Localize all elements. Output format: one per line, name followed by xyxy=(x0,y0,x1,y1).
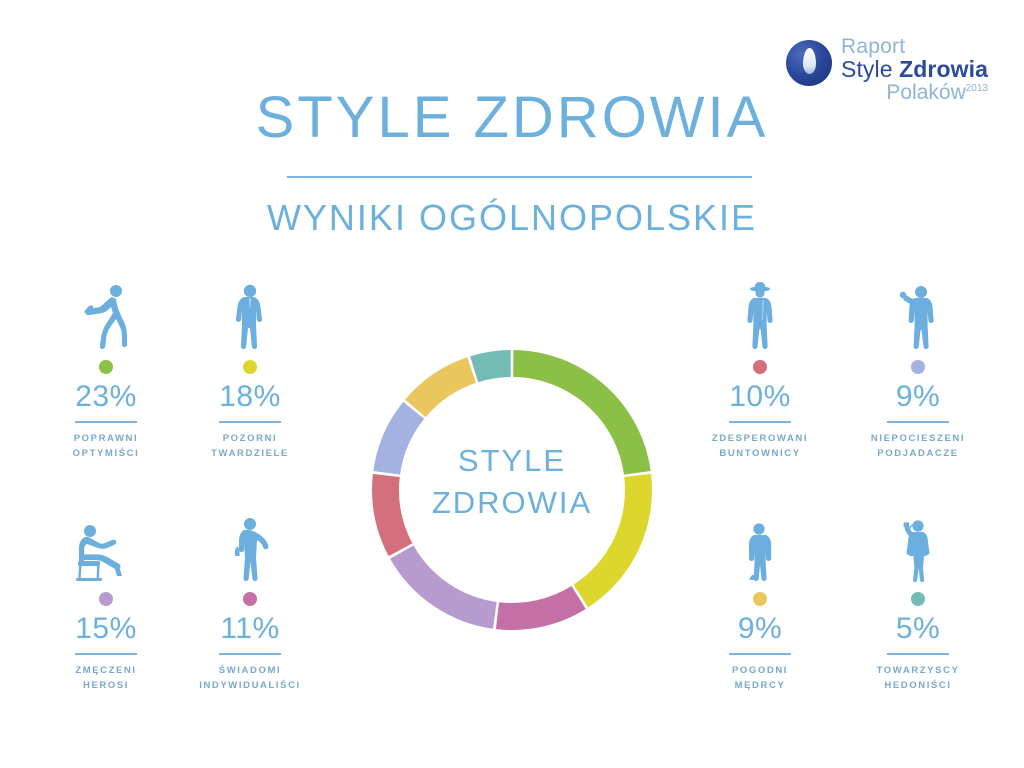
logo-word-zdrowia: Zdrowia xyxy=(899,56,988,82)
logo-line-style-zdrowia: Style Zdrowia xyxy=(841,58,988,82)
segment-percent: 5% xyxy=(838,612,998,646)
segment-label-line1: ZMĘCZENI xyxy=(26,664,186,679)
segment-divider xyxy=(219,653,281,655)
segment-color-dot xyxy=(243,592,257,606)
segment-label-line1: NIEPOCIESZENI xyxy=(838,432,998,447)
donut-center-line1: STYLE xyxy=(352,440,672,482)
segment-card-niepocieszeni-podjadacze[interactable]: 9% NIEPOCIESZENI PODJADACZE xyxy=(838,278,998,461)
segment-divider xyxy=(219,421,281,423)
segment-label-line1: POZORNI xyxy=(170,432,330,447)
segment-label-line1: POGODNI xyxy=(680,664,840,679)
segment-card-zdesperowani-buntownicy[interactable]: 10% ZDESPEROWANI BUNTOWNICY xyxy=(680,278,840,461)
donut-slice-6[interactable] xyxy=(405,357,476,417)
segment-color-dot xyxy=(753,592,767,606)
segment-percent: 15% xyxy=(26,612,186,646)
segment-color-dot xyxy=(243,360,257,374)
segment-percent: 18% xyxy=(170,380,330,414)
segment-label: ZMĘCZENI HEROSI xyxy=(26,664,186,693)
segment-color-dot xyxy=(911,360,925,374)
segment-percent: 10% xyxy=(680,380,840,414)
person-calm-standing-icon xyxy=(680,510,840,582)
segment-label: POPRAWNI OPTYMIŚCI xyxy=(26,432,186,461)
segment-card-poprawni-optymisci[interactable]: 23% POPRAWNI OPTYMIŚCI xyxy=(26,278,186,461)
page-title: STYLE ZDROWIA xyxy=(0,84,1024,151)
segment-card-zmeczeni-herosi[interactable]: 15% ZMĘCZENI HEROSI xyxy=(26,510,186,693)
segment-label-line1: POPRAWNI xyxy=(26,432,186,447)
page-subtitle: WYNIKI OGÓLNOPOLSKIE xyxy=(0,197,1024,239)
person-sitting-chair-icon xyxy=(26,510,186,582)
segment-label-line2: HEDONIŚCI xyxy=(838,679,998,694)
donut-center-label: STYLE ZDROWIA xyxy=(352,440,672,524)
segment-divider xyxy=(887,653,949,655)
segment-label: NIEPOCIESZENI PODJADACZE xyxy=(838,432,998,461)
segment-label-line2: BUNTOWNICY xyxy=(680,447,840,462)
donut-center-line2: ZDROWIA xyxy=(352,482,672,524)
segment-card-pozorni-twardziele[interactable]: 18% POZORNI TWARDZIELE xyxy=(170,278,330,461)
person-woman-drink-icon xyxy=(838,510,998,582)
segment-label-line2: HEROSI xyxy=(26,679,186,694)
segment-divider xyxy=(729,421,791,423)
segment-divider xyxy=(75,421,137,423)
segment-label-line2: TWARDZIELE xyxy=(170,447,330,462)
title-divider xyxy=(287,176,752,178)
segment-label: ZDESPEROWANI BUNTOWNICY xyxy=(680,432,840,461)
donut-slice-7[interactable] xyxy=(470,350,511,382)
segment-label: POGODNI MĘDRCY xyxy=(680,664,840,693)
segment-divider xyxy=(75,653,137,655)
segment-label-line1: ZDESPEROWANI xyxy=(680,432,840,447)
logo-line-raport: Raport xyxy=(841,36,988,58)
logo-mark-icon xyxy=(786,40,832,86)
segment-color-dot xyxy=(753,360,767,374)
segment-color-dot xyxy=(99,592,113,606)
segment-label-line2: INDYWIDUALIŚCI xyxy=(170,679,330,694)
donut-slice-2[interactable] xyxy=(496,586,586,630)
segment-divider xyxy=(729,653,791,655)
segment-card-towarzyscy-hedonisci[interactable]: 5% TOWARZYSCY HEDONIŚCI xyxy=(838,510,998,693)
segment-label-line2: MĘDRCY xyxy=(680,679,840,694)
segment-percent: 11% xyxy=(170,612,330,646)
segment-color-dot xyxy=(911,592,925,606)
segment-card-swiadomi-indywidualisci[interactable]: 11% ŚWIADOMI INDYWIDUALIŚCI xyxy=(170,510,330,693)
logo-word-style: Style xyxy=(841,56,899,82)
segment-percent: 9% xyxy=(680,612,840,646)
segment-label: ŚWIADOMI INDYWIDUALIŚCI xyxy=(170,664,330,693)
person-hat-standing-icon xyxy=(680,278,840,350)
segment-label-line2: PODJADACZE xyxy=(838,447,998,462)
segment-color-dot xyxy=(99,360,113,374)
segment-label-line1: TOWARZYSCY xyxy=(838,664,998,679)
person-suit-standing-icon xyxy=(170,278,330,350)
segment-label-line2: OPTYMIŚCI xyxy=(26,447,186,462)
person-jumping-icon xyxy=(26,278,186,350)
person-eating-icon xyxy=(838,278,998,350)
segment-label: POZORNI TWARDZIELE xyxy=(170,432,330,461)
segment-label: TOWARZYSCY HEDONIŚCI xyxy=(838,664,998,693)
donut-slice-3[interactable] xyxy=(390,545,497,628)
segment-label-line1: ŚWIADOMI xyxy=(170,664,330,679)
segment-divider xyxy=(887,421,949,423)
segment-card-pogodni-medrcy[interactable]: 9% POGODNI MĘDRCY xyxy=(680,510,840,693)
person-leaning-icon xyxy=(170,510,330,582)
segment-percent: 23% xyxy=(26,380,186,414)
segment-percent: 9% xyxy=(838,380,998,414)
